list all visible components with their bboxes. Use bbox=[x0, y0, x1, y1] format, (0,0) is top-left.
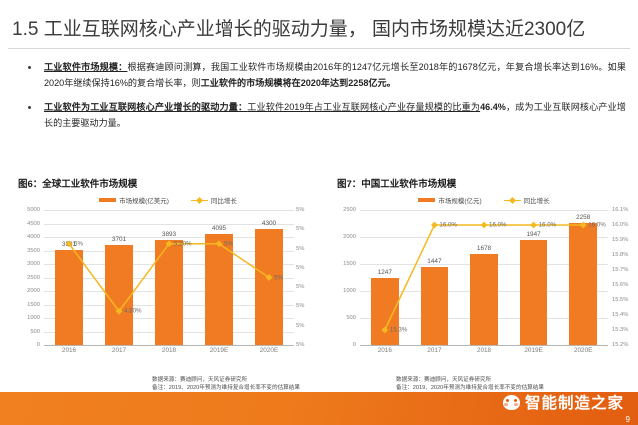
trend-marker bbox=[530, 222, 537, 229]
chart-6-panel: 市场规模(亿美元) 同比增长 0500100015002000250030003… bbox=[14, 192, 322, 372]
legend-bar-swatch-icon bbox=[99, 198, 116, 202]
line-value-label: 16.0% bbox=[489, 222, 507, 229]
bullet-2-head: 工业软件为工业互联网核心产业增长的驱动力量： bbox=[44, 102, 247, 112]
chart-6-title: 图6：全球工业软件市场规模 bbox=[18, 176, 137, 190]
chart-7-x-axis: 2016201720182019E2020E bbox=[330, 345, 638, 359]
chart-7-plot-area: 0500100015002000250015.2%15.3%15.4%15.5%… bbox=[330, 210, 638, 345]
mascot-face-icon bbox=[503, 395, 520, 410]
watermark-label: 智能制造之家 bbox=[525, 391, 624, 413]
x-axis-tick: 2017 bbox=[427, 347, 441, 354]
trend-line bbox=[69, 244, 269, 312]
bullet-1-strong: 工业软件的市场规模将在2020年达到2258亿元。 bbox=[201, 78, 396, 88]
legend-item-bar: 市场规模(亿美元) bbox=[99, 195, 169, 205]
line-value-label: 4.80% bbox=[124, 308, 142, 315]
bullet-list: 工业软件市场规模：根据赛迪顾问测算，我国工业软件市场规模由2016年的1247亿… bbox=[22, 60, 626, 140]
bullet-text-2: 工业软件为工业互联网核心产业增长的驱动力量：工业软件2019年占工业互联网核心产… bbox=[44, 100, 626, 131]
legend-item-line: 同比增长 bbox=[504, 195, 550, 205]
slide-root: 1.5 工业互联网核心产业增长的驱动力量， 国内市场规模达近2300亿 工业软件… bbox=[0, 0, 638, 425]
x-axis-tick: 2019E bbox=[210, 347, 228, 354]
bullet-1-head: 工业软件市场规模： bbox=[44, 62, 127, 72]
line-value-label: 5% bbox=[274, 274, 283, 281]
chart-6-note-line: 备注：2019、2020年预测为维持复合增长率不变的估算结果 bbox=[152, 384, 300, 392]
line-value-label: 5% bbox=[224, 240, 233, 247]
x-axis-tick: 2018 bbox=[162, 347, 176, 354]
trend-line-layer bbox=[330, 210, 638, 345]
watermark: 智能制造之家 bbox=[503, 391, 624, 413]
chart-6-legend: 市场规模(亿美元) 同比增长 bbox=[14, 192, 322, 208]
legend-line-swatch-icon bbox=[191, 198, 208, 203]
bullet-text-1: 工业软件市场规模：根据赛迪顾问测算，我国工业软件市场规模由2016年的1247亿… bbox=[44, 60, 626, 91]
bullet-2-strong: 46.4% bbox=[480, 102, 506, 112]
bullet-dot-icon bbox=[28, 106, 31, 109]
x-axis-tick: 2016 bbox=[62, 347, 76, 354]
title-divider bbox=[8, 48, 630, 49]
chart-6-x-axis: 2016201720182019E2020E bbox=[14, 345, 322, 359]
footer-band: 智能制造之家 9 bbox=[0, 392, 638, 425]
line-value-label: 15.3% bbox=[390, 327, 408, 334]
legend-bar-label: 市场规模(亿元) bbox=[438, 195, 481, 205]
x-axis-tick: 2018 bbox=[477, 347, 491, 354]
legend-bar-label: 市场规模(亿美元) bbox=[119, 195, 169, 205]
x-axis-tick: 2020E bbox=[574, 347, 592, 354]
chart-7-source: 数据来源：赛迪顾问，天风证券研究所 备注：2019、2020年预测为维持复合增长… bbox=[396, 376, 544, 392]
line-value-label: 5% bbox=[74, 240, 83, 247]
legend-item-bar: 市场规模(亿元) bbox=[418, 195, 481, 205]
trend-marker bbox=[431, 222, 438, 229]
bullet-2-body: 工业软件2019年占工业互联网核心产业存量规模的比重为 bbox=[247, 102, 480, 112]
legend-line-label: 同比增长 bbox=[524, 195, 550, 205]
chart-6-source: 数据来源：赛迪顾问，天风证券研究所 备注：2019、2020年预测为维持复合增长… bbox=[152, 376, 300, 392]
trend-line bbox=[385, 225, 583, 330]
line-value-label: 16.0% bbox=[588, 222, 606, 229]
legend-bar-swatch-icon bbox=[418, 198, 435, 202]
legend-line-label: 同比增长 bbox=[211, 195, 237, 205]
line-value-label: 5.20% bbox=[174, 240, 192, 247]
chart-7-panel: 市场规模(亿元) 同比增长 0500100015002000250015.2%1… bbox=[330, 192, 638, 372]
chart-6-plot-area: 0500100015002000250030003500400045005000… bbox=[14, 210, 322, 345]
list-item: 工业软件市场规模：根据赛迪顾问测算，我国工业软件市场规模由2016年的1247亿… bbox=[22, 60, 626, 91]
chart-7-legend: 市场规模(亿元) 同比增长 bbox=[330, 192, 638, 208]
chart-7-title: 图7：中国工业软件市场规模 bbox=[337, 176, 456, 190]
legend-line-swatch-icon bbox=[504, 198, 521, 203]
trend-marker bbox=[580, 222, 587, 229]
list-item: 工业软件为工业互联网核心产业增长的驱动力量：工业软件2019年占工业互联网核心产… bbox=[22, 100, 626, 131]
x-axis-tick: 2020E bbox=[260, 347, 278, 354]
chart-6-source-line: 数据来源：赛迪顾问，天风证券研究所 bbox=[152, 376, 300, 384]
page-number: 9 bbox=[626, 415, 630, 424]
x-axis-tick: 2017 bbox=[112, 347, 126, 354]
bullet-dot-icon bbox=[28, 66, 31, 69]
chart-7-source-line: 数据来源：赛迪顾问，天风证券研究所 bbox=[396, 376, 544, 384]
line-value-label: 16.0% bbox=[539, 222, 557, 229]
mascot-cheeks-icon bbox=[504, 403, 519, 407]
x-axis-tick: 2016 bbox=[378, 347, 392, 354]
page-title: 1.5 工业互联网核心产业增长的驱动力量， 国内市场规模达近2300亿 bbox=[0, 14, 638, 41]
legend-item-line: 同比增长 bbox=[191, 195, 237, 205]
trend-marker bbox=[481, 222, 488, 229]
line-value-label: 16.0% bbox=[439, 222, 457, 229]
x-axis-tick: 2019E bbox=[524, 347, 542, 354]
trend-marker bbox=[381, 327, 388, 334]
